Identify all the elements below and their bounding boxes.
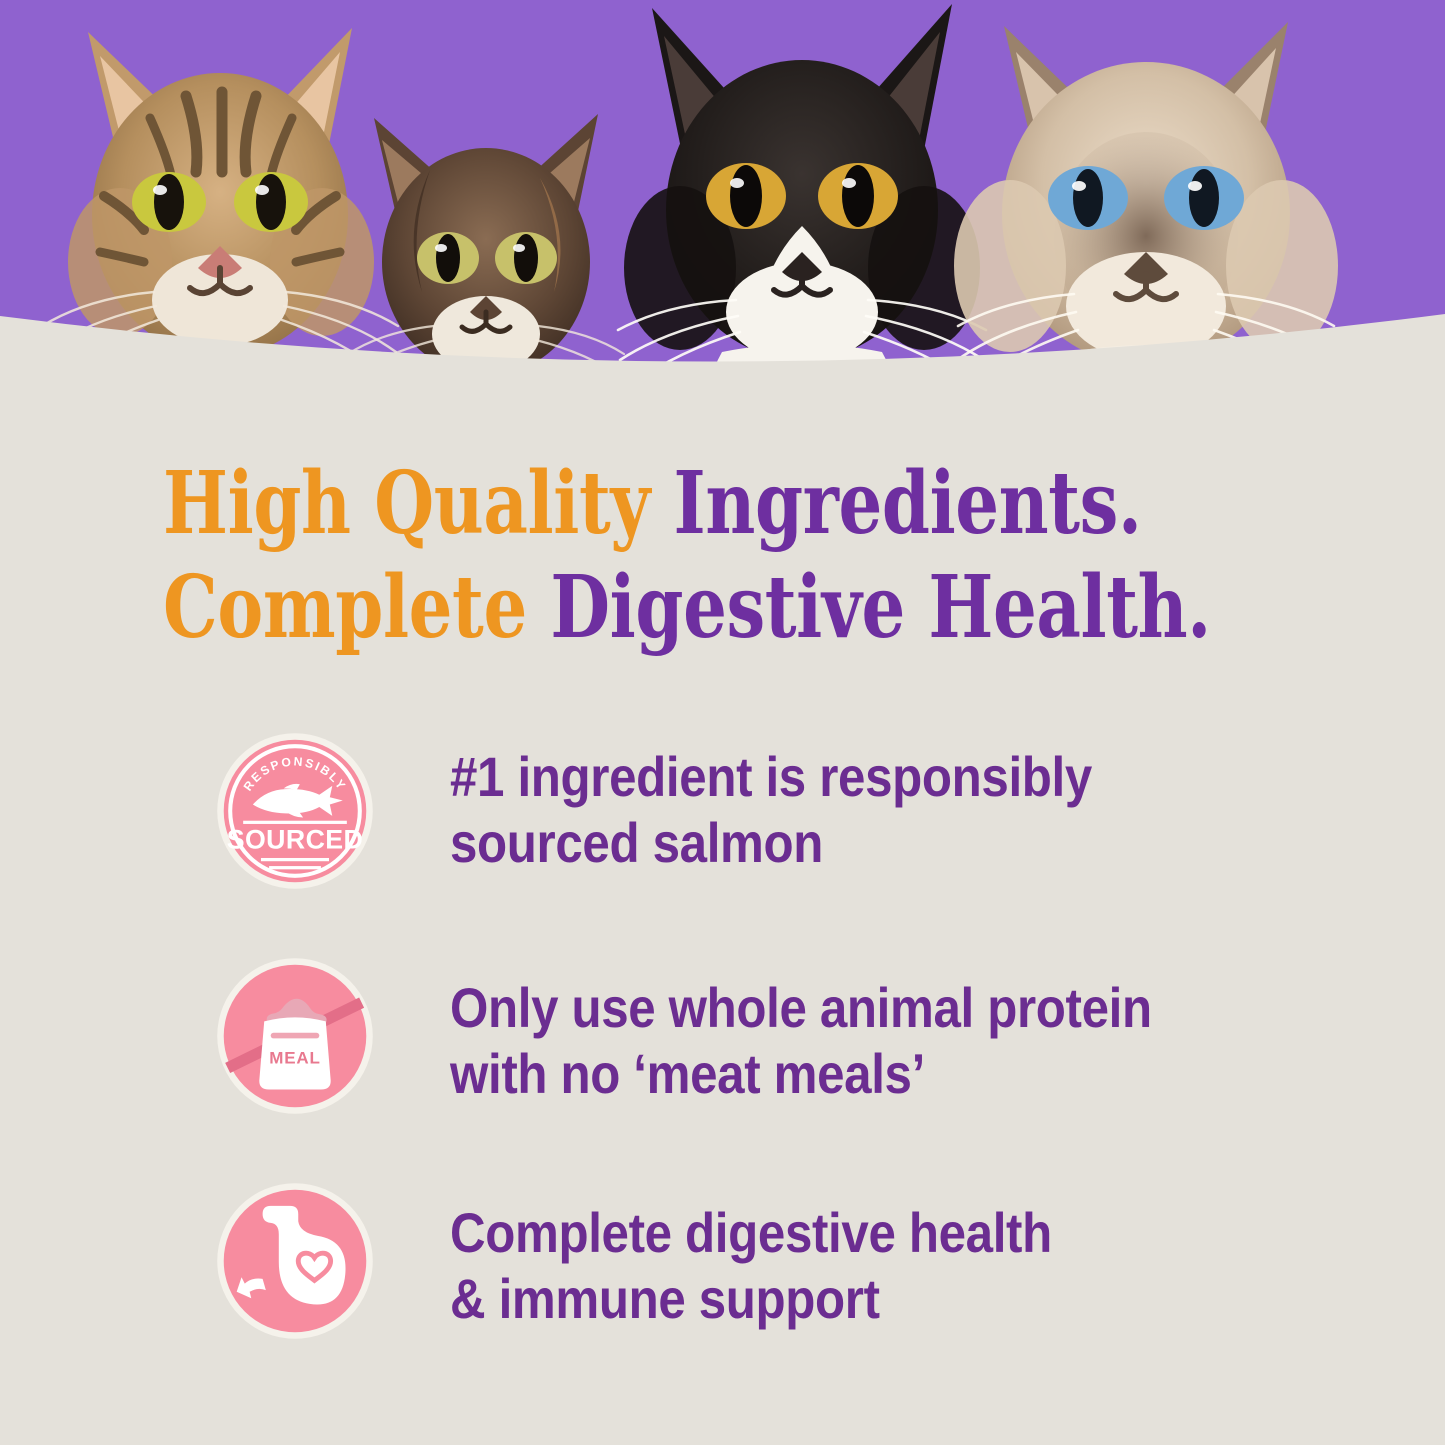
cat-3-black-and-white-tuxedo-cat bbox=[618, 4, 986, 420]
feature-item-no-meat-meals: MEAL Only use whole animal protein with … bbox=[0, 947, 1445, 1172]
feature-text-1: #1 ingredient is responsibly sourced sal… bbox=[450, 744, 1092, 875]
headline-line-1: High Quality Ingredients. bbox=[163, 452, 1115, 556]
svg-text:SOURCED: SOURCED bbox=[227, 824, 363, 854]
cat-2-tortoiseshell-kitten bbox=[348, 114, 624, 378]
cat-1-brown-tabby bbox=[42, 28, 398, 376]
responsibly-sourced-fish-badge-icon: RESPONSIBLY SOURCED bbox=[214, 730, 376, 892]
page-title: High Quality Ingredients. Complete Diges… bbox=[163, 452, 1115, 660]
headline-line-2-purple: Digestive Health. bbox=[550, 557, 1210, 658]
no-meat-meal-sack-badge-icon: MEAL bbox=[214, 955, 376, 1117]
hero-cat-photos bbox=[0, 0, 1445, 420]
feature-text-3: Complete digestive health & immune suppo… bbox=[450, 1200, 1052, 1331]
feature-list: RESPONSIBLY SOURCED #1 ingredient is res… bbox=[0, 722, 1445, 1397]
headline-line-1-purple: Ingredients. bbox=[674, 453, 1142, 554]
headline-line-2-orange: Complete bbox=[163, 557, 550, 658]
feature-item-responsibly-sourced: RESPONSIBLY SOURCED #1 ingredient is res… bbox=[0, 722, 1445, 947]
digestive-health-stomach-heart-badge-icon bbox=[214, 1180, 376, 1342]
headline-line-1-orange: High Quality bbox=[163, 453, 674, 554]
feature-text-2: Only use whole animal protein with no ‘m… bbox=[450, 975, 1152, 1106]
cat-4-seal-point-ragdoll-cat bbox=[954, 22, 1338, 420]
product-feature-infographic: High Quality Ingredients. Complete Diges… bbox=[0, 0, 1445, 1445]
feature-item-digestive-health: Complete digestive health & immune suppo… bbox=[0, 1172, 1445, 1397]
headline-line-2: Complete Digestive Health. bbox=[163, 556, 1115, 660]
svg-text:MEAL: MEAL bbox=[269, 1049, 320, 1068]
hero-banner bbox=[0, 0, 1445, 420]
